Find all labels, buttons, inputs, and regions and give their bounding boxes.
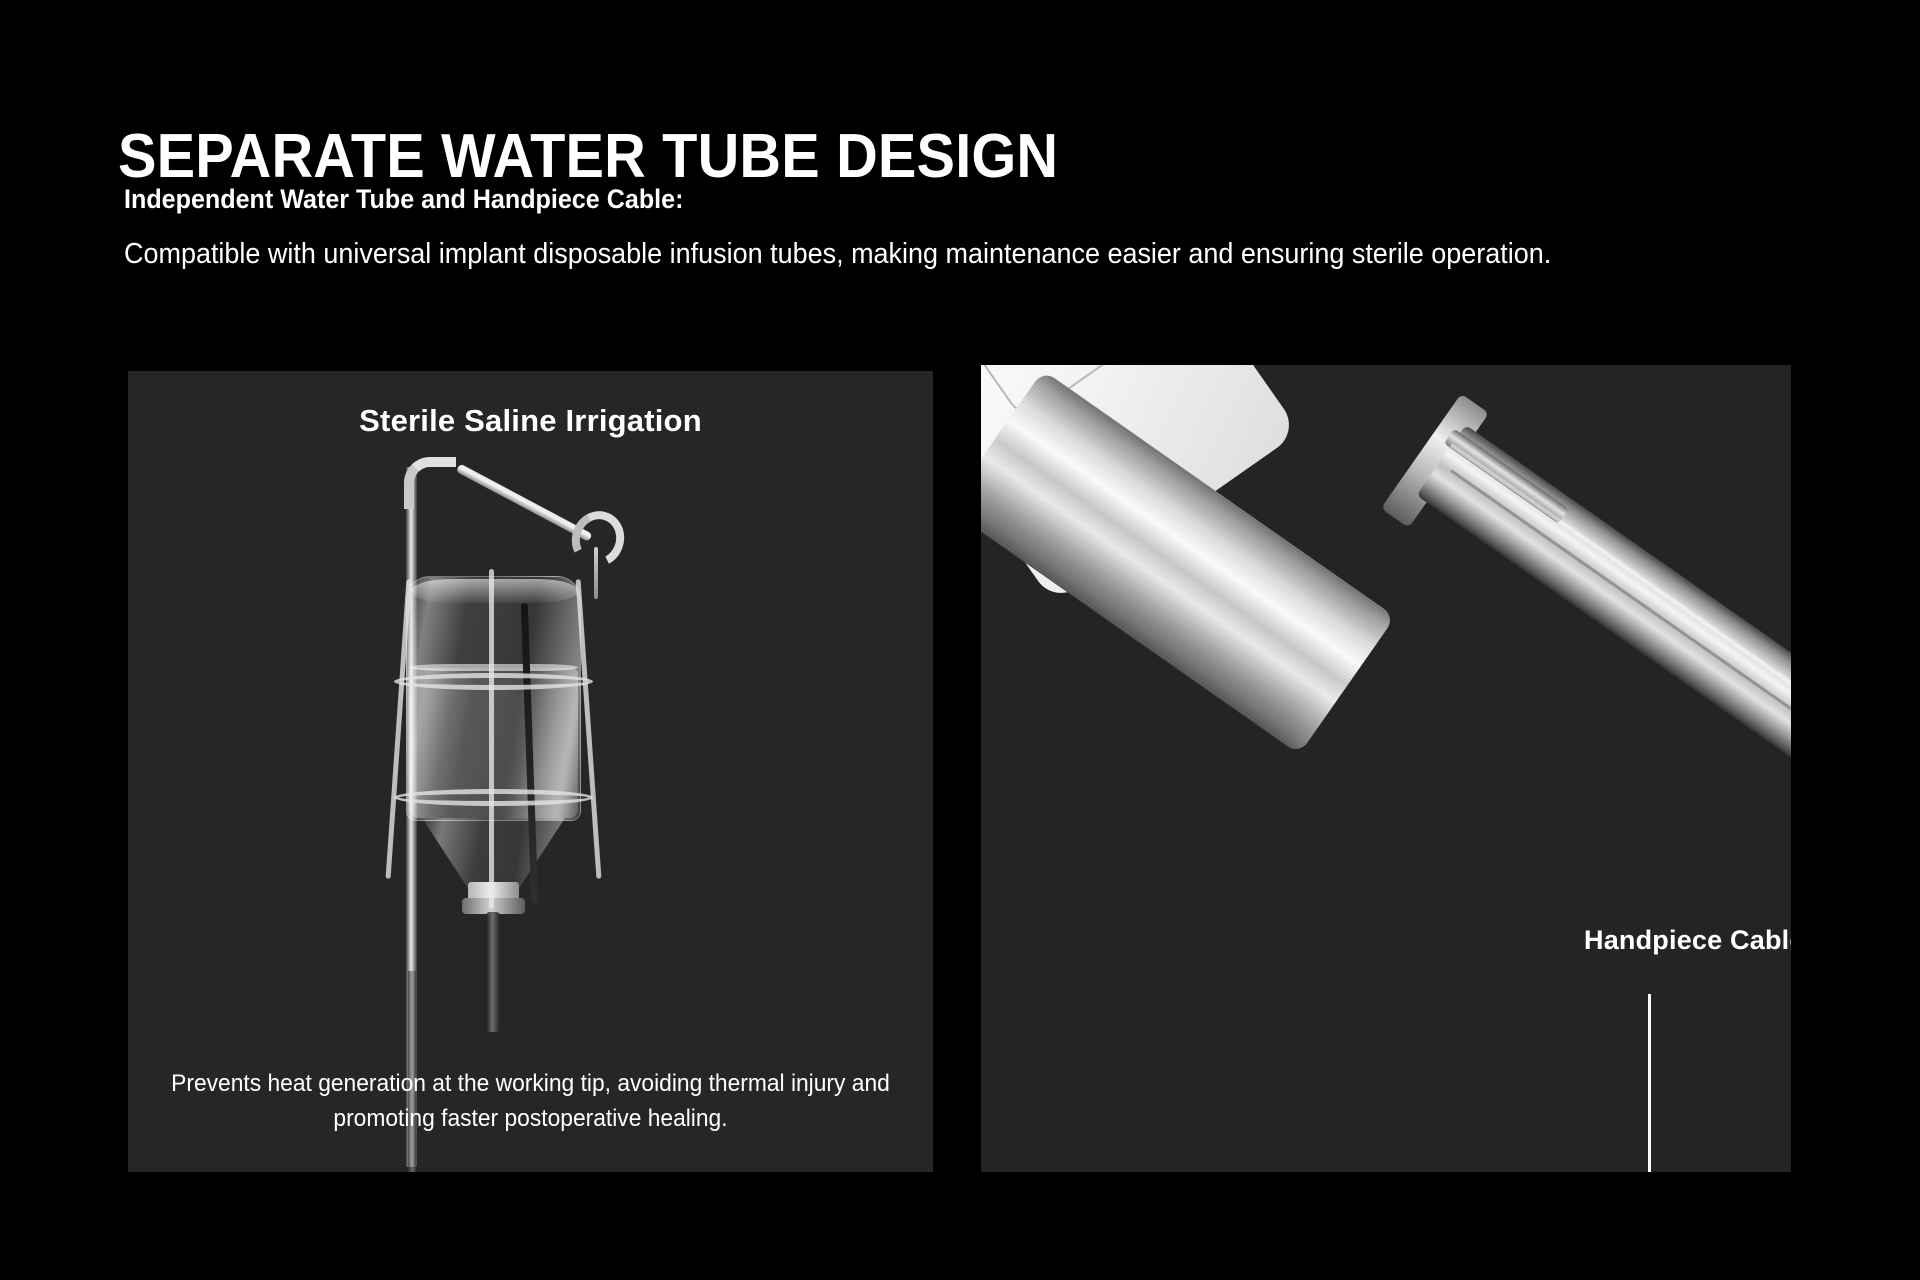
iv-stand-illustration	[128, 371, 933, 1172]
bottle-outlet-tube	[486, 912, 500, 1032]
bottle-cage-ring	[394, 789, 593, 806]
description-text: Compatible with universal implant dispos…	[124, 232, 1761, 276]
iv-hook-icon	[565, 504, 632, 573]
page-title: SEPARATE WATER TUBE DESIGN	[118, 124, 1058, 190]
handpiece-illustration	[981, 365, 1791, 1172]
panel-sterile-saline-irrigation: Sterile Saline Irrigation Prevents heat …	[128, 371, 933, 1172]
bottle-shoulder	[411, 579, 578, 603]
bottle-cage-ring	[394, 673, 593, 690]
iv-arm-curve-icon	[404, 457, 456, 509]
bottle-cage-rib	[489, 569, 494, 909]
iv-hook-arm-icon	[456, 464, 593, 542]
panel-handpiece-detail: Handpiece Cable Water Tube	[981, 365, 1791, 1172]
iv-drip-line-icon	[594, 547, 598, 599]
subtitle: Independent Water Tube and Handpiece Cab…	[124, 182, 683, 216]
panel-left-caption: Prevents heat generation at the working …	[148, 1066, 913, 1136]
panel-left-heading: Sterile Saline Irrigation	[128, 403, 933, 439]
label-handpiece-cable: Handpiece Cable	[1584, 925, 1791, 956]
handpiece-shaft	[1416, 425, 1791, 794]
leader-line-handpiece-cable	[1648, 994, 1651, 1172]
